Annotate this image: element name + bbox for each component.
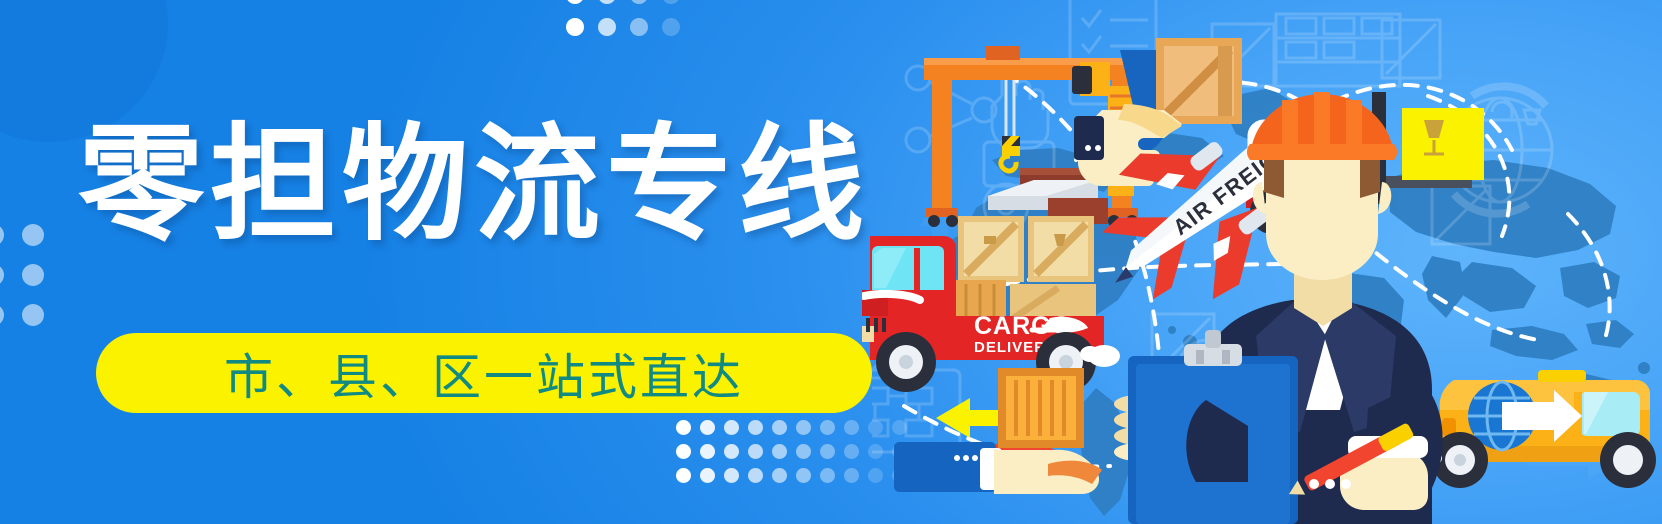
logistics-illustration: CARGO DELIVERY [862, 0, 1662, 524]
cargo-truck: CARGO DELIVERY [862, 216, 1120, 392]
page-title: 零担物流专线 [78, 124, 870, 250]
delivery-van [1414, 370, 1656, 488]
hand-holding-crate [894, 368, 1162, 494]
subtitle-text: 市、县、区一站式直达 [224, 338, 744, 409]
logistics-banner: CARGO DELIVERY [0, 0, 1662, 524]
subtitle-pill: 市、县、区一站式直达 [96, 333, 872, 413]
